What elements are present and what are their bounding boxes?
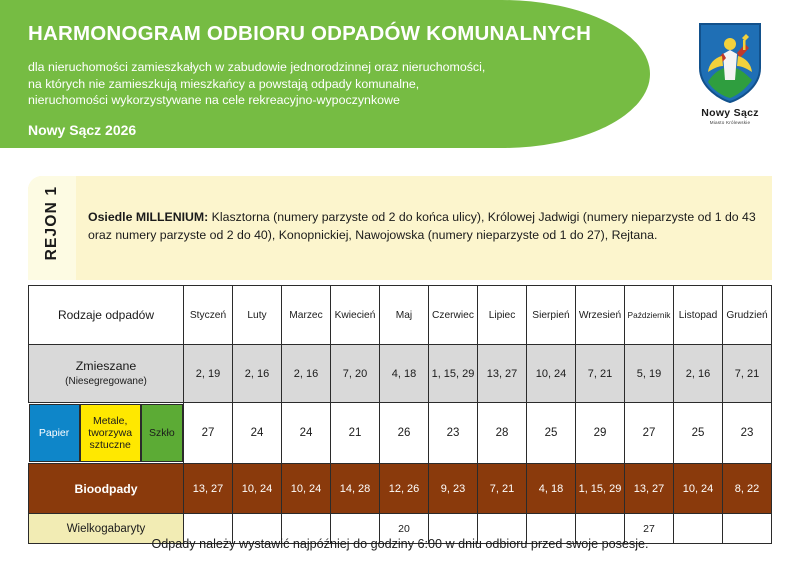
cell-bio-10: 13, 27 bbox=[625, 464, 674, 514]
header-subtitle-line-2: na których nie zamieszkują mieszkańcy a … bbox=[28, 76, 628, 93]
cell-mixed-6: 1, 15, 29 bbox=[429, 345, 478, 403]
cell-segregated-11: 25 bbox=[674, 403, 723, 464]
footer-note: Odpady należy wystawić najpóźniej do god… bbox=[0, 537, 800, 551]
row-label-mixed-sub: (Niesegregowane) bbox=[30, 374, 182, 389]
header-month-11: Listopad bbox=[674, 286, 723, 345]
page-title: HARMONOGRAM ODBIORU ODPADÓW KOMUNALNYCH bbox=[28, 22, 628, 46]
cell-segregated-5: 26 bbox=[380, 403, 429, 464]
cell-segregated-10: 27 bbox=[625, 403, 674, 464]
crest-city-subtitle: Miasto Królewskie bbox=[676, 120, 784, 125]
cell-mixed-9: 7, 21 bbox=[576, 345, 625, 403]
cell-mixed-7: 13, 27 bbox=[478, 345, 527, 403]
city-crest: Nowy Sącz Miasto Królewskie bbox=[676, 22, 784, 142]
cell-segregated-6: 23 bbox=[429, 403, 478, 464]
cell-mixed-1: 2, 19 bbox=[184, 345, 233, 403]
cell-mixed-5: 4, 18 bbox=[380, 345, 429, 403]
region-label-strip: REJON 1 bbox=[28, 176, 76, 280]
region-panel: REJON 1 Osiedle MILLENIUM: Klasztorna (n… bbox=[28, 176, 772, 280]
row-label-segregated: Papier Metale, tworzywa sztuczne Szkło bbox=[29, 403, 184, 464]
region-label: REJON 1 bbox=[43, 173, 61, 273]
segregated-category-group: Papier Metale, tworzywa sztuczne Szkło bbox=[29, 404, 184, 462]
cell-segregated-1: 27 bbox=[184, 403, 233, 464]
cell-mixed-10: 5, 19 bbox=[625, 345, 674, 403]
header-month-2: Luty bbox=[233, 286, 282, 345]
cell-segregated-2: 24 bbox=[233, 403, 282, 464]
cell-mixed-12: 7, 21 bbox=[723, 345, 772, 403]
header-month-8: Sierpień bbox=[527, 286, 576, 345]
header-month-4: Kwiecień bbox=[331, 286, 380, 345]
header-month-1: Styczeń bbox=[184, 286, 233, 345]
table-row-mixed-waste: Zmieszane (Niesegregowane) 2, 19 2, 16 2… bbox=[29, 345, 772, 403]
header-waste-type: Rodzaje odpadów bbox=[29, 286, 184, 345]
table-row-segregated-waste: Papier Metale, tworzywa sztuczne Szkło 2… bbox=[29, 403, 772, 464]
cell-mixed-11: 2, 16 bbox=[674, 345, 723, 403]
cell-bio-7: 7, 21 bbox=[478, 464, 527, 514]
coat-of-arms-icon bbox=[698, 22, 762, 104]
cell-segregated-3: 24 bbox=[282, 403, 331, 464]
cell-segregated-4: 21 bbox=[331, 403, 380, 464]
cell-segregated-7: 28 bbox=[478, 403, 527, 464]
header-month-7: Lipiec bbox=[478, 286, 527, 345]
header-month-3: Marzec bbox=[282, 286, 331, 345]
header-subtitle-line-1: dla nieruchomości zamieszkałych w zabudo… bbox=[28, 59, 628, 76]
cell-segregated-8: 25 bbox=[527, 403, 576, 464]
cell-mixed-4: 7, 20 bbox=[331, 345, 380, 403]
region-description: Osiedle MILLENIUM: Klasztorna (numery pa… bbox=[88, 208, 760, 244]
header-month-5: Maj bbox=[380, 286, 429, 345]
cell-segregated-9: 29 bbox=[576, 403, 625, 464]
header-subtitle-line-3: nieruchomości wykorzystywane na cele rek… bbox=[28, 92, 628, 109]
cell-segregated-12: 23 bbox=[723, 403, 772, 464]
row-label-mixed: Zmieszane (Niesegregowane) bbox=[29, 345, 184, 403]
cell-bio-12: 8, 22 bbox=[723, 464, 772, 514]
table-header-row: Rodzaje odpadów Styczeń Luty Marzec Kwie… bbox=[29, 286, 772, 345]
header-month-12: Grudzień bbox=[723, 286, 772, 345]
table-row-bio-waste: Bioodpady 13, 27 10, 24 10, 24 14, 28 12… bbox=[29, 464, 772, 514]
row-label-mixed-main: Zmieszane bbox=[30, 359, 182, 374]
row-label-bio: Bioodpady bbox=[29, 464, 184, 514]
cell-bio-9: 1, 15, 29 bbox=[576, 464, 625, 514]
cell-bio-5: 12, 26 bbox=[380, 464, 429, 514]
header-month-9: Wrzesień bbox=[576, 286, 625, 345]
cell-bio-3: 10, 24 bbox=[282, 464, 331, 514]
cell-bio-4: 14, 28 bbox=[331, 464, 380, 514]
header-text-block: HARMONOGRAM ODBIORU ODPADÓW KOMUNALNYCH … bbox=[28, 22, 628, 138]
category-paper: Papier bbox=[29, 404, 80, 462]
cell-mixed-3: 2, 16 bbox=[282, 345, 331, 403]
crest-city-name: Nowy Sącz bbox=[676, 107, 784, 119]
cell-bio-8: 4, 18 bbox=[527, 464, 576, 514]
category-metals-plastics: Metale, tworzywa sztuczne bbox=[80, 404, 141, 462]
cell-mixed-8: 10, 24 bbox=[527, 345, 576, 403]
header-city-year: Nowy Sącz 2026 bbox=[28, 122, 628, 138]
cell-mixed-2: 2, 16 bbox=[233, 345, 282, 403]
cell-bio-2: 10, 24 bbox=[233, 464, 282, 514]
header-month-6: Czerwiec bbox=[429, 286, 478, 345]
header-month-10: Październik bbox=[625, 286, 674, 345]
category-glass: Szkło bbox=[141, 404, 183, 462]
collection-schedule-table: Rodzaje odpadów Styczeń Luty Marzec Kwie… bbox=[28, 285, 772, 544]
cell-bio-6: 9, 23 bbox=[429, 464, 478, 514]
region-estate-name: Osiedle MILLENIUM: bbox=[88, 210, 208, 224]
cell-bio-1: 13, 27 bbox=[184, 464, 233, 514]
cell-bio-11: 10, 24 bbox=[674, 464, 723, 514]
